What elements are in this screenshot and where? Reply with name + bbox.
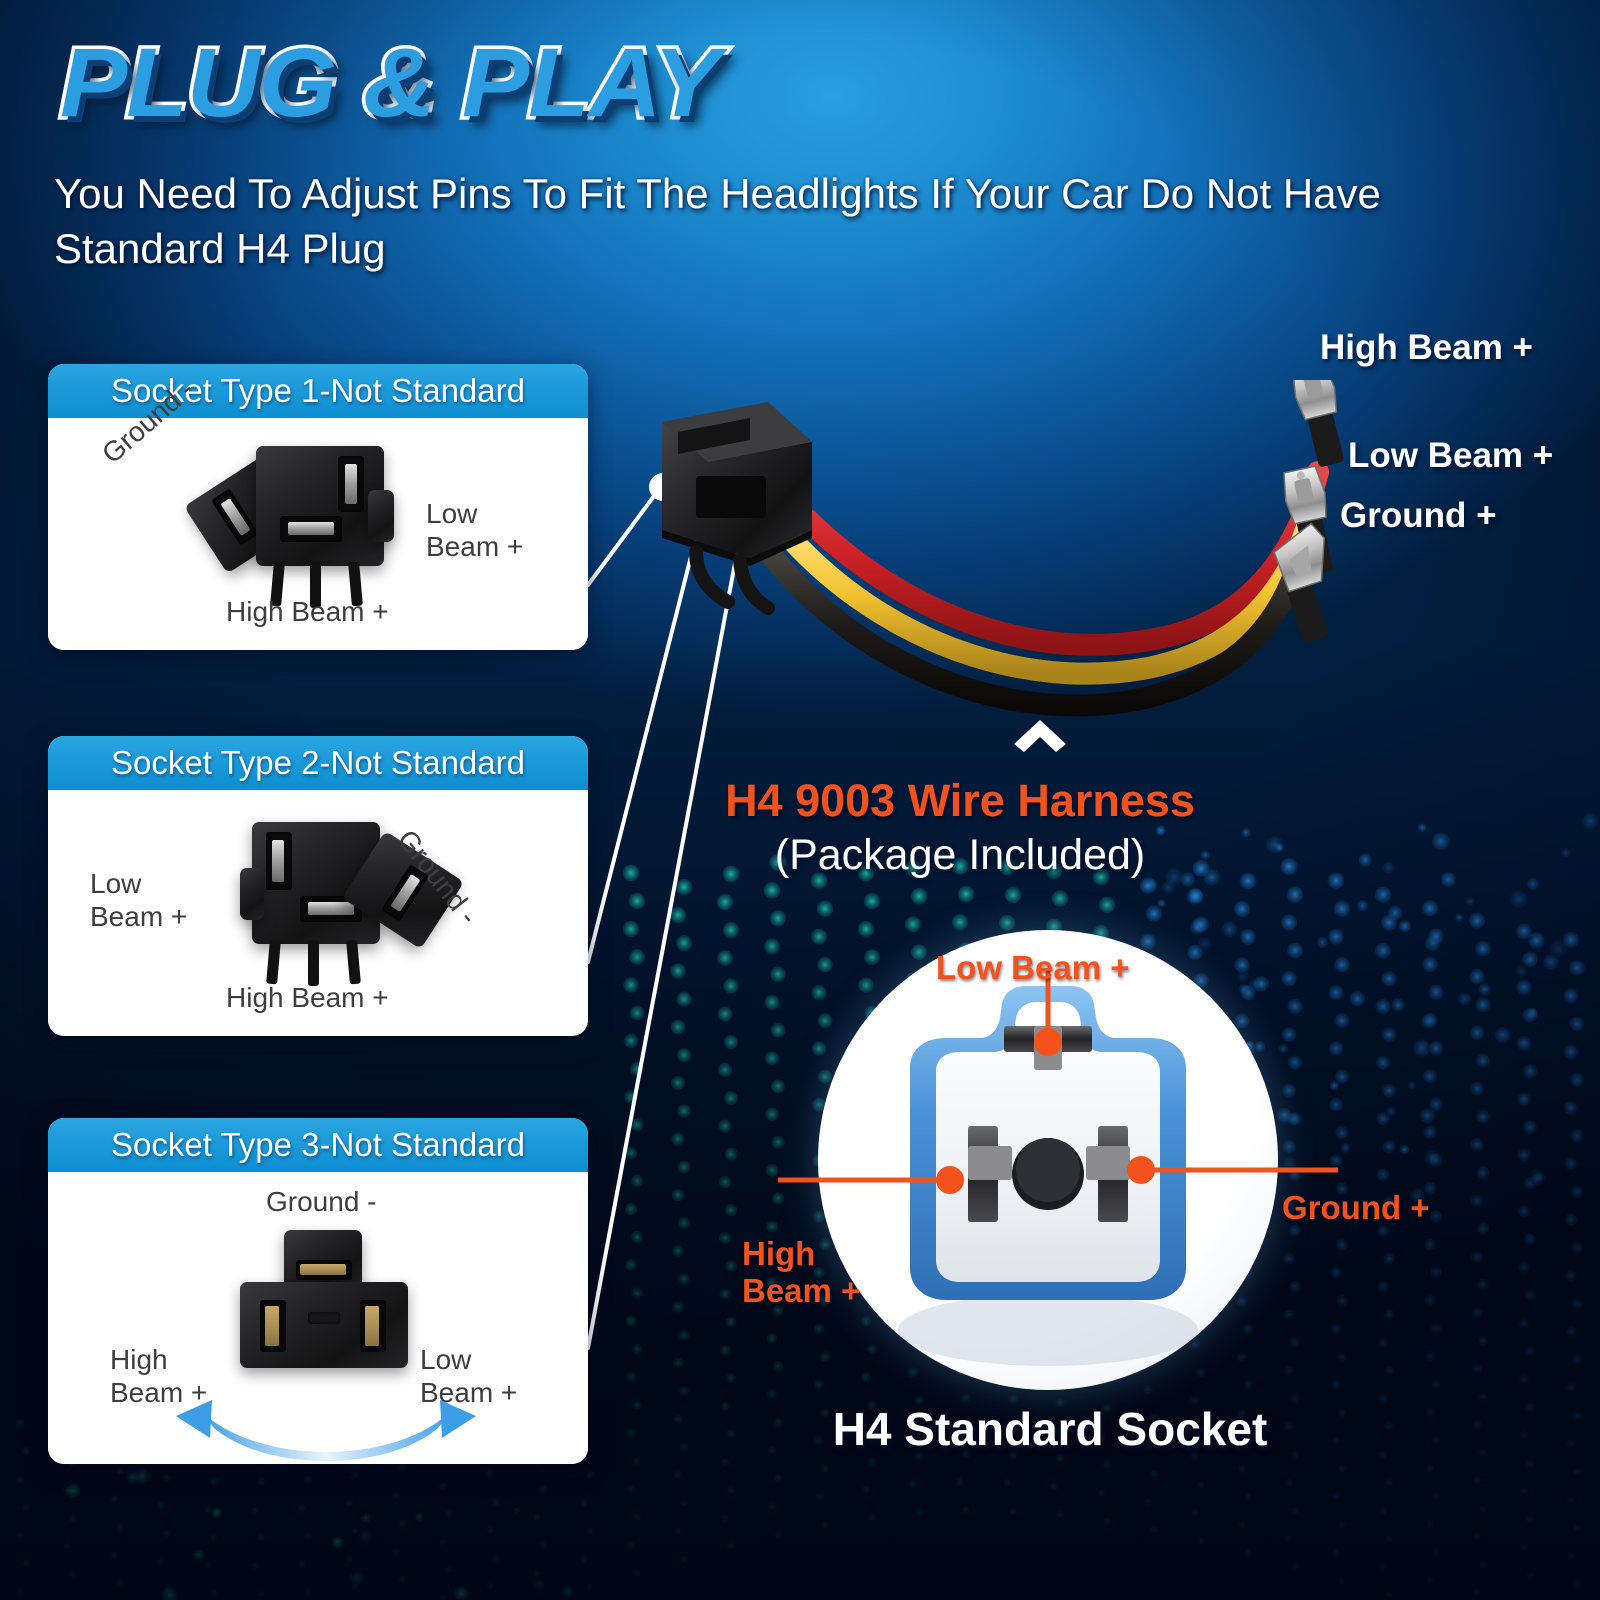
harness-low-beam-label: Low Beam +: [1348, 436, 1553, 476]
socket-type-1-card[interactable]: Socket Type 1-Not Standard: [48, 364, 588, 650]
h4-socket-ground-label: Ground +: [1282, 1190, 1430, 1226]
swap-direction-arrow-icon: [166, 1394, 486, 1464]
card-1-body: Ground - Low Beam + High Beam +: [48, 418, 588, 650]
h4-standard-socket-title: H4 Standard Socket: [760, 1402, 1340, 1456]
h4-socket-high-beam-label: High Beam +: [742, 1200, 860, 1309]
card-1-high-beam-label: High Beam +: [226, 596, 389, 628]
card-2-heading: Socket Type 2-Not Standard: [48, 736, 588, 790]
socket-type-1-connector-image: [198, 438, 418, 588]
harness-high-beam-label: High Beam +: [1320, 328, 1533, 368]
h4-socket-low-beam-label: Low Beam +: [936, 950, 1129, 986]
harness-caption: H4 9003 Wire Harness (Package Included): [640, 775, 1280, 880]
card-2-high-beam-label: High Beam +: [226, 982, 389, 1014]
card-3-body: Ground - High Beam + Low Beam +: [48, 1172, 588, 1464]
harness-ground-label: Ground +: [1340, 496, 1497, 536]
h4-standard-socket-photo: [818, 930, 1278, 1390]
chevron-up-icon: [1012, 718, 1068, 754]
card-2-low-beam-label: Low Beam +: [90, 836, 187, 933]
card-1-heading: Socket Type 1-Not Standard: [48, 364, 588, 418]
card-3-heading: Socket Type 3-Not Standard: [48, 1118, 588, 1172]
harness-caption-line1: H4 9003 Wire Harness: [640, 775, 1280, 827]
card-2-body: Low Beam + Ground - High Beam +: [48, 790, 588, 1036]
card-1-low-beam-label: Low Beam +: [426, 466, 523, 563]
socket-type-2-card[interactable]: Socket Type 2-Not Standard Low Beam +: [48, 736, 588, 1036]
socket-type-3-card[interactable]: Socket Type 3-Not Standard Ground - High…: [48, 1118, 588, 1464]
socket-type-3-connector-image: [238, 1230, 408, 1380]
infographic-canvas: PLUG & PLAY You Need To Adjust Pins To F…: [0, 0, 1600, 1600]
card-3-ground-label: Ground -: [266, 1186, 377, 1218]
